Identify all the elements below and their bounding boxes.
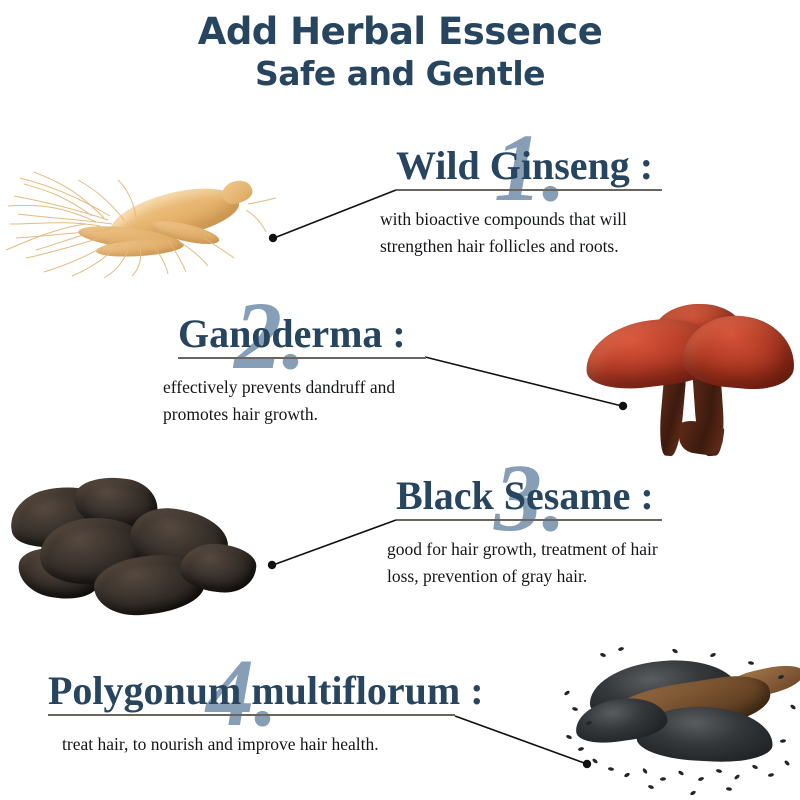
ganoderma-mushroom-image [575, 298, 800, 458]
connector-line-1 [274, 190, 396, 238]
section-body-4: treat hair, to nourish and improve hair … [62, 731, 482, 758]
section-rule-2 [178, 357, 426, 359]
section-rule-4 [48, 714, 455, 716]
section-heading-4: Polygonum multiflorum : [48, 667, 484, 714]
herbal-essence-infographic: Add Herbal Essence Safe and Gentle [0, 0, 800, 800]
section-body-2: effectively prevents dandruff and promot… [163, 374, 463, 428]
title-line-secondary: Safe and Gentle [0, 54, 800, 94]
section-heading-1: Wild Ginseng : [396, 142, 653, 189]
connector-line-3 [273, 520, 396, 565]
section-rule-3 [396, 519, 662, 521]
section-body-1: with bioactive compounds that will stren… [380, 206, 680, 260]
title-block: Add Herbal Essence Safe and Gentle [0, 10, 800, 94]
scattered-sesame-seeds [555, 645, 800, 800]
section-body-3: good for hair growth, treatment of hair … [387, 536, 687, 590]
section-heading-3: Black Sesame : [396, 472, 654, 519]
section-heading-2: Ganoderma : [178, 310, 406, 357]
section-rule-1 [396, 189, 662, 191]
ginseng-root-image [0, 158, 280, 283]
black-sesame-seeds-image [555, 645, 800, 800]
polygonum-multiflorum-image [0, 470, 270, 630]
ginseng-root-fibers [0, 158, 280, 283]
title-line-primary: Add Herbal Essence [0, 10, 800, 54]
